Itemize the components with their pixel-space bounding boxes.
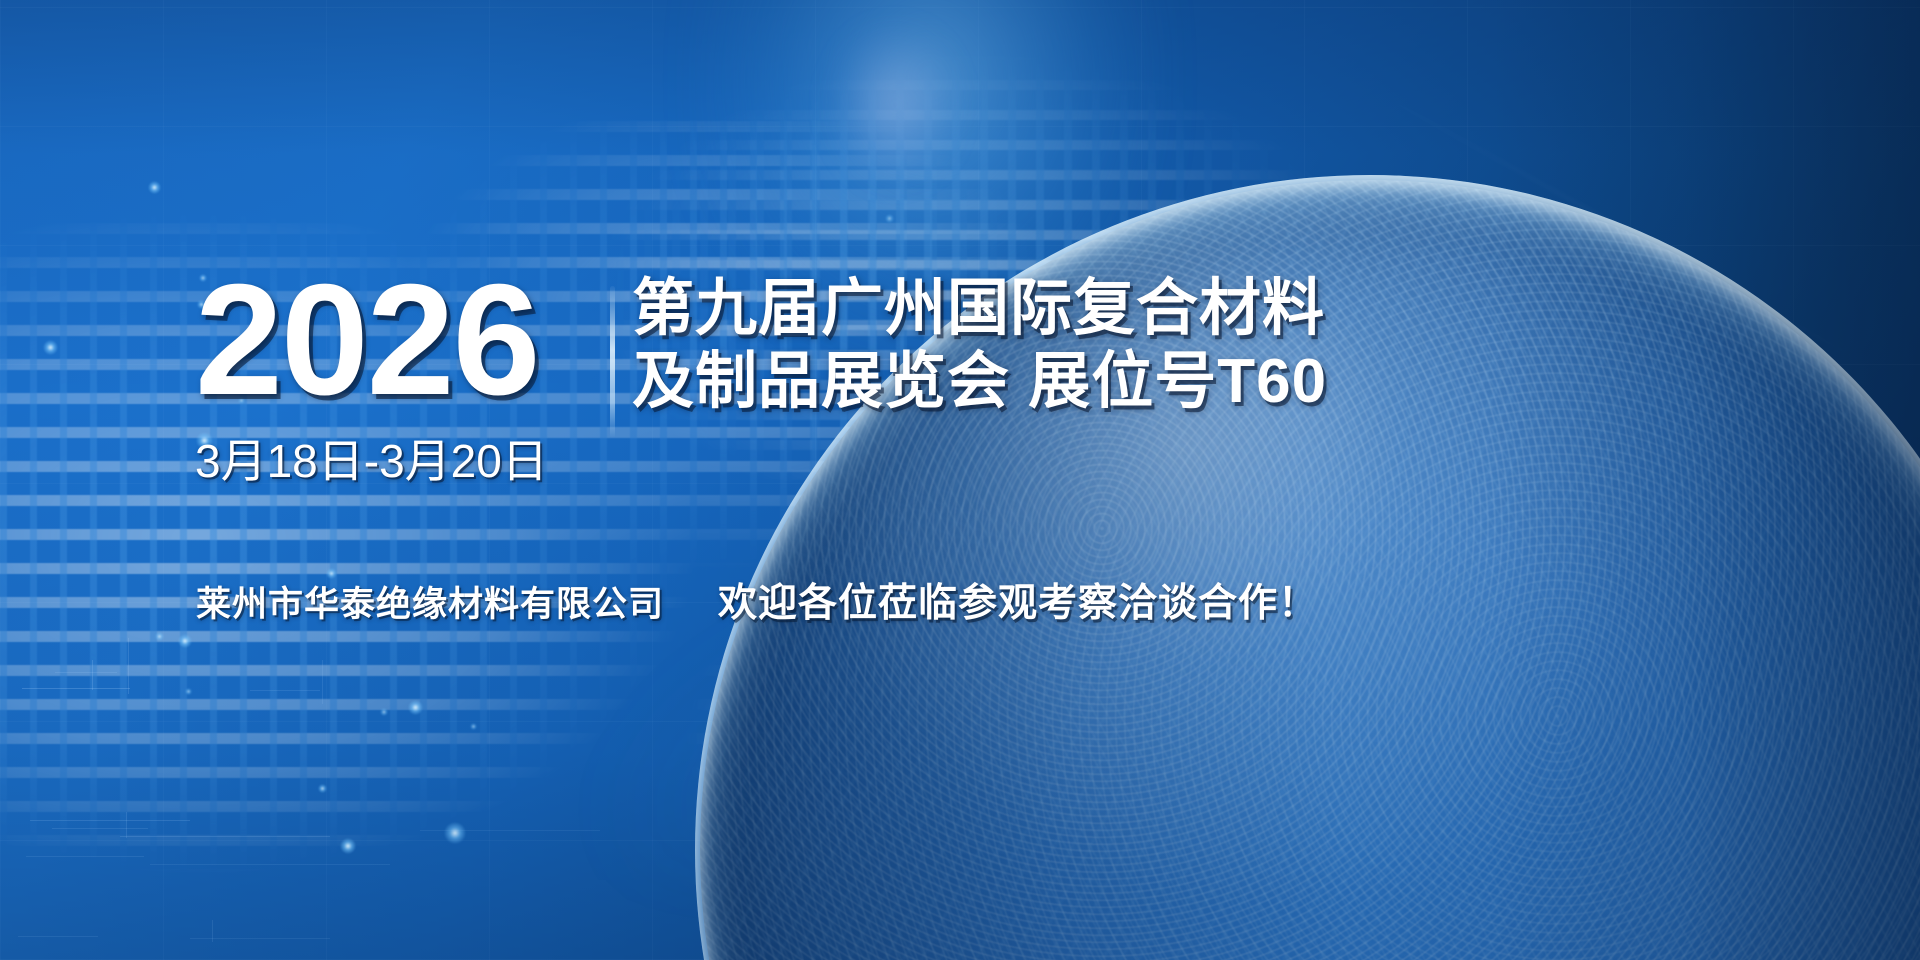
headline-line-1: 第九届广州国际复合材料 (632, 272, 1912, 345)
exhibition-banner: 2026 3月18日-3月20日 第九届广州国际复合材料 及制品展览会 展位号T… (0, 0, 1920, 960)
year-block: 2026 3月18日-3月20日 (195, 268, 625, 491)
footer-row: 莱州市华泰绝缘材料有限公司 欢迎各位莅临参观考察洽谈合作！ (196, 572, 1318, 628)
event-dates: 3月18日-3月20日 (195, 425, 625, 491)
banner-content: 2026 3月18日-3月20日 第九届广州国际复合材料 及制品展览会 展位号T… (0, 0, 1920, 960)
year-label: 2026 (195, 268, 625, 413)
company-name: 莱州市华泰绝缘材料有限公司 (196, 576, 664, 627)
welcome-message: 欢迎各位莅临参观考察洽谈合作！ (718, 572, 1318, 628)
vertical-divider (610, 286, 615, 438)
headline-block: 第九届广州国际复合材料 及制品展览会 展位号T60 (632, 272, 1912, 418)
headline-line-2: 及制品展览会 展位号T60 (632, 345, 1912, 418)
